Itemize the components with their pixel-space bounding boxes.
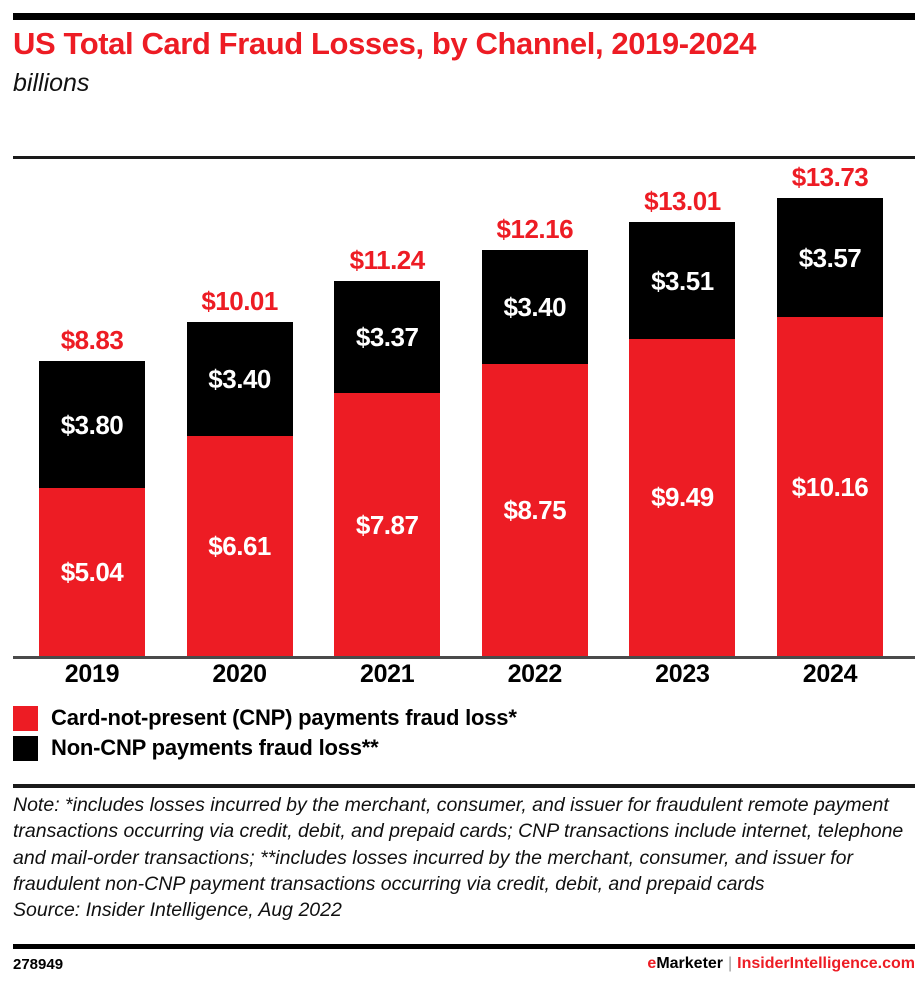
bar-segment-non-cnp[interactable]: $3.57 (777, 198, 883, 317)
brand-attribution: eMarketer|InsiderIntelligence.com (647, 955, 915, 973)
bar-stack-2023[interactable]: $13.01$3.51$9.49 (629, 222, 735, 656)
brand-separator: | (723, 955, 737, 972)
x-tick-2019: 2019 (39, 662, 145, 687)
chart-subtitle: billions (13, 70, 915, 98)
bar-segment-label: $3.80 (61, 412, 124, 438)
bar-segment-cnp[interactable]: $8.75 (482, 364, 588, 656)
bar-total-label: $12.16 (497, 216, 574, 242)
x-tick-2020: 2020 (187, 662, 293, 687)
notes-divider (13, 784, 915, 788)
bar-stack-2022[interactable]: $12.16$3.40$8.75 (482, 250, 588, 656)
red-swatch-icon (13, 706, 38, 731)
chart-plot-area: $8.83$3.80$5.04$10.01$3.40$6.61$11.24$3.… (0, 160, 922, 660)
bar-segment-cnp[interactable]: $5.04 (39, 488, 145, 656)
bar-segment-cnp[interactable]: $9.49 (629, 339, 735, 656)
bar-segment-cnp[interactable]: $7.87 (334, 393, 440, 656)
bar-total-label: $11.24 (350, 247, 425, 273)
chart-legend: Card-not-present (CNP) payments fraud lo… (13, 706, 915, 766)
legend-item-non-cnp: Non-CNP payments fraud loss** (13, 736, 915, 760)
x-tick-2023: 2023 (629, 662, 735, 687)
bar-segment-label: $8.75 (504, 497, 567, 523)
brand-website[interactable]: InsiderIntelligence.com (737, 955, 915, 972)
bar-segment-non-cnp[interactable]: $3.40 (187, 322, 293, 435)
legend-item-label: Non-CNP payments fraud loss** (51, 737, 379, 759)
brand-name: Marketer (656, 955, 723, 972)
x-axis-line (13, 656, 915, 659)
chart-page: US Total Card Fraud Losses, by Channel, … (0, 0, 922, 986)
x-tick-2024: 2024 (777, 662, 883, 687)
chart-footer: 278949 eMarketer|InsiderIntelligence.com (13, 955, 915, 973)
bar-segment-label: $6.61 (208, 533, 271, 559)
bar-segment-label: $3.57 (799, 245, 862, 271)
bar-segment-label: $3.51 (651, 268, 714, 294)
bar-stack-2024[interactable]: $13.73$3.57$10.16 (777, 198, 883, 656)
x-tick-2021: 2021 (334, 662, 440, 687)
bar-segment-non-cnp[interactable]: $3.80 (39, 361, 145, 488)
bar-segment-label: $5.04 (61, 559, 124, 585)
bar-total-label: $8.83 (61, 327, 124, 353)
black-swatch-icon (13, 736, 38, 761)
page-title: US Total Card Fraud Losses, by Channel, … (13, 26, 915, 62)
x-axis-tick-labels: 201920202021202220232024 (0, 662, 922, 696)
bar-segment-label: $10.16 (792, 474, 869, 500)
bar-stack-2019[interactable]: $8.83$3.80$5.04 (39, 361, 145, 656)
bar-stack-2020[interactable]: $10.01$3.40$6.61 (187, 322, 293, 656)
legend-item-label: Card-not-present (CNP) payments fraud lo… (51, 707, 517, 729)
bar-segment-cnp[interactable]: $10.16 (777, 317, 883, 656)
x-tick-2022: 2022 (482, 662, 588, 687)
chart-notes: Note: *includes losses incurred by the m… (13, 792, 909, 924)
bar-segment-non-cnp[interactable]: $3.37 (334, 281, 440, 393)
bar-total-label: $13.01 (644, 188, 721, 214)
legend-item-cnp: Card-not-present (CNP) payments fraud lo… (13, 706, 915, 730)
bar-segment-non-cnp[interactable]: $3.51 (629, 222, 735, 339)
bar-segment-label: $3.40 (504, 294, 567, 320)
bar-total-label: $13.73 (792, 164, 869, 190)
bar-segment-cnp[interactable]: $6.61 (187, 436, 293, 656)
bar-segment-label: $3.40 (208, 366, 271, 392)
chart-header: US Total Card Fraud Losses, by Channel, … (13, 26, 915, 98)
chart-id: 278949 (13, 956, 63, 973)
bar-segment-label: $3.37 (356, 324, 419, 350)
note-text: Note: *includes losses incurred by the m… (13, 792, 909, 897)
bar-segment-non-cnp[interactable]: $3.40 (482, 250, 588, 363)
bar-segment-label: $9.49 (651, 484, 714, 510)
header-divider (13, 156, 915, 159)
brand-initial: e (647, 955, 656, 972)
bar-total-label: $10.01 (201, 288, 278, 314)
bar-stack-2021[interactable]: $11.24$3.37$7.87 (334, 281, 440, 656)
source-text: Source: Insider Intelligence, Aug 2022 (13, 897, 909, 923)
top-divider (13, 13, 915, 20)
bar-segment-label: $7.87 (356, 512, 419, 538)
footer-divider (13, 944, 915, 949)
